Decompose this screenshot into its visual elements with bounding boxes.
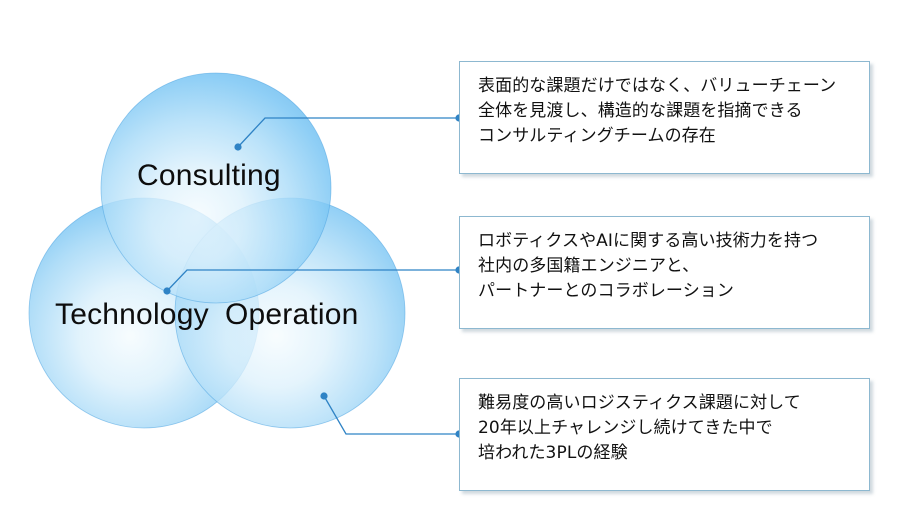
callout-box-consulting[interactable]: 表面的な課題だけではなく、バリューチェーン 全体を見渡し、構造的な課題を指摘でき… xyxy=(459,61,870,174)
callout-box-technology[interactable]: ロボティクスやAIに関する高い技術力を持つ 社内の多国籍エンジニアと、 パートナ… xyxy=(459,216,870,329)
callout-text-consulting: 表面的な課題だけではなく、バリューチェーン 全体を見渡し、構造的な課題を指摘でき… xyxy=(478,74,869,149)
venn-label-technology: Technology xyxy=(55,300,209,330)
callout-box-operation[interactable]: 難易度の高いロジスティクス課題に対して 20年以上チャレンジし続けてきた中で 培… xyxy=(459,378,870,491)
venn-circle-group xyxy=(29,73,405,428)
callout-text-technology: ロボティクスやAIに関する高い技術力を持つ 社内の多国籍エンジニアと、 パートナ… xyxy=(478,229,869,304)
callout-text-operation: 難易度の高いロジスティクス課題に対して 20年以上チャレンジし続けてきた中で 培… xyxy=(478,391,869,466)
venn-label-consulting: Consulting xyxy=(137,161,281,191)
diagram-canvas: Consulting Technology Operation 表面的な課題だけ… xyxy=(0,0,897,524)
venn-label-operation: Operation xyxy=(225,300,359,330)
venn-diagram xyxy=(0,0,450,524)
